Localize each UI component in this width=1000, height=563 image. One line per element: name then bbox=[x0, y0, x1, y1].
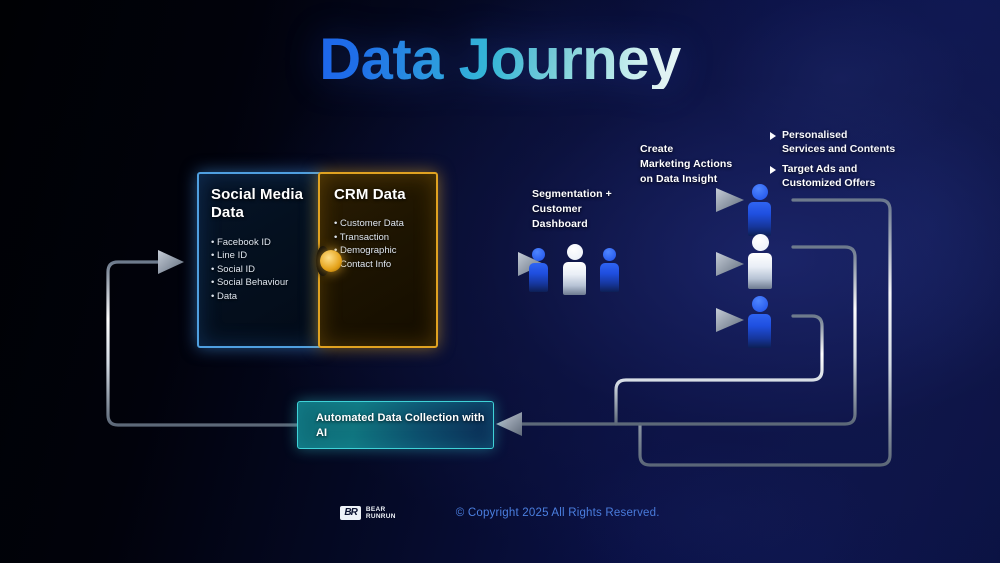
outcome-text: Target Ads and Customized Offers bbox=[782, 162, 875, 191]
person-body bbox=[529, 263, 548, 292]
bear-runrun-logo: BR BEAR RUNRUN bbox=[340, 506, 395, 521]
person-head bbox=[752, 184, 768, 200]
person-head bbox=[752, 234, 769, 251]
logo-badge: BR bbox=[340, 506, 360, 520]
social-media-bullet-list: Facebook ID Line ID Social ID Social Beh… bbox=[211, 236, 320, 303]
person-body bbox=[600, 263, 619, 292]
person-head bbox=[603, 248, 616, 261]
person-head bbox=[752, 296, 768, 312]
list-item: Contact Info bbox=[334, 258, 436, 271]
list-item: Social ID bbox=[211, 263, 320, 276]
automated-data-collection-card[interactable]: Automated Data Collection with AI bbox=[297, 401, 494, 449]
list-item: Transaction bbox=[334, 231, 436, 244]
person-icon-blue bbox=[748, 184, 771, 236]
person-body bbox=[748, 253, 772, 289]
person-icon-white bbox=[563, 244, 586, 295]
logo-wordmark: BEAR RUNRUN bbox=[366, 506, 396, 521]
list-item: Facebook ID bbox=[211, 236, 320, 249]
list-item: Line ID bbox=[211, 249, 320, 262]
slide-canvas: Data Journey Social Media Data Facebook … bbox=[0, 0, 1000, 563]
list-item: Demographic bbox=[334, 244, 436, 257]
person-body bbox=[563, 262, 586, 295]
list-item: Social Behaviour bbox=[211, 276, 320, 289]
puzzle-piece-icon bbox=[320, 250, 342, 272]
person-icon-blue bbox=[529, 248, 548, 292]
outcome-text: Personalised Services and Contents bbox=[782, 128, 895, 157]
page-title: Data Journey bbox=[0, 31, 1000, 89]
triangle-bullet-icon bbox=[770, 166, 776, 174]
create-marketing-actions-label: Create Marketing Actions on Data Insight bbox=[640, 142, 732, 188]
social-media-data-card[interactable]: Social Media Data Facebook ID Line ID So… bbox=[197, 172, 322, 348]
person-body bbox=[748, 202, 771, 236]
outcomes-list: Personalised Services and Contents Targe… bbox=[770, 128, 985, 196]
person-icon-blue bbox=[748, 296, 771, 348]
list-item: Personalised Services and Contents bbox=[770, 128, 985, 157]
crm-bullet-list: Customer Data Transaction Demographic Co… bbox=[334, 217, 436, 271]
person-icon-white bbox=[748, 234, 772, 289]
person-head bbox=[532, 248, 545, 261]
crm-heading: CRM Data bbox=[334, 186, 436, 204]
footer: BR BEAR RUNRUN © Copyright 2025 All Righ… bbox=[0, 506, 1000, 521]
automated-text: Automated Data Collection with AI bbox=[316, 411, 493, 441]
list-item: Customer Data bbox=[334, 217, 436, 230]
copyright-text: © Copyright 2025 All Rights Reserved. bbox=[456, 507, 660, 519]
list-item: Data bbox=[211, 290, 320, 303]
person-icon-blue bbox=[600, 248, 619, 292]
list-item: Target Ads and Customized Offers bbox=[770, 162, 985, 191]
person-head bbox=[567, 244, 583, 260]
triangle-bullet-icon bbox=[770, 132, 776, 140]
social-media-heading: Social Media Data bbox=[211, 186, 320, 223]
segmentation-label: Segmentation + Customer Dashboard bbox=[532, 187, 612, 233]
person-body bbox=[748, 314, 771, 348]
